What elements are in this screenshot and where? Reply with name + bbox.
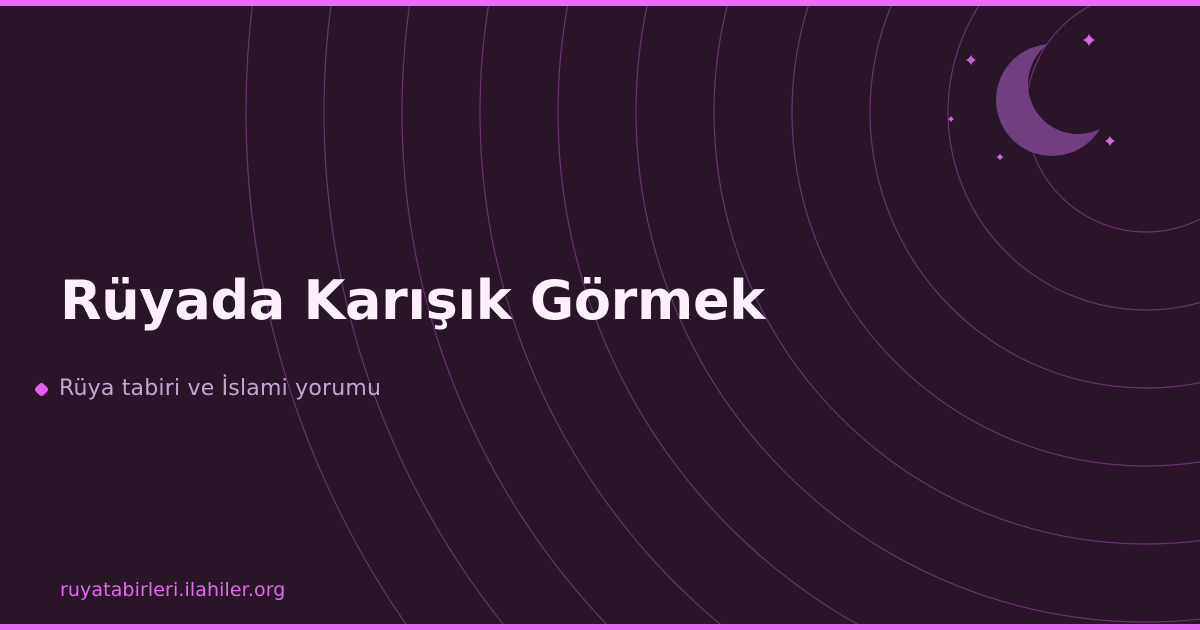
card-content: Rüyada Karışık Görmek Rüya tabiri ve İsl… xyxy=(0,0,1200,630)
subtitle-text: Rüya tabiri ve İslami yorumu xyxy=(59,378,381,400)
page-title: Rüyada Karışık Görmek xyxy=(60,272,765,330)
diamond-bullet-icon xyxy=(34,381,50,397)
site-url: ruyatabirleri.ilahiler.org xyxy=(60,581,285,600)
og-card: Rüyada Karışık Görmek Rüya tabiri ve İsl… xyxy=(0,0,1200,630)
subtitle-row: Rüya tabiri ve İslami yorumu xyxy=(36,378,381,400)
bottom-accent-rule xyxy=(0,624,1200,630)
top-accent-rule xyxy=(0,0,1200,6)
